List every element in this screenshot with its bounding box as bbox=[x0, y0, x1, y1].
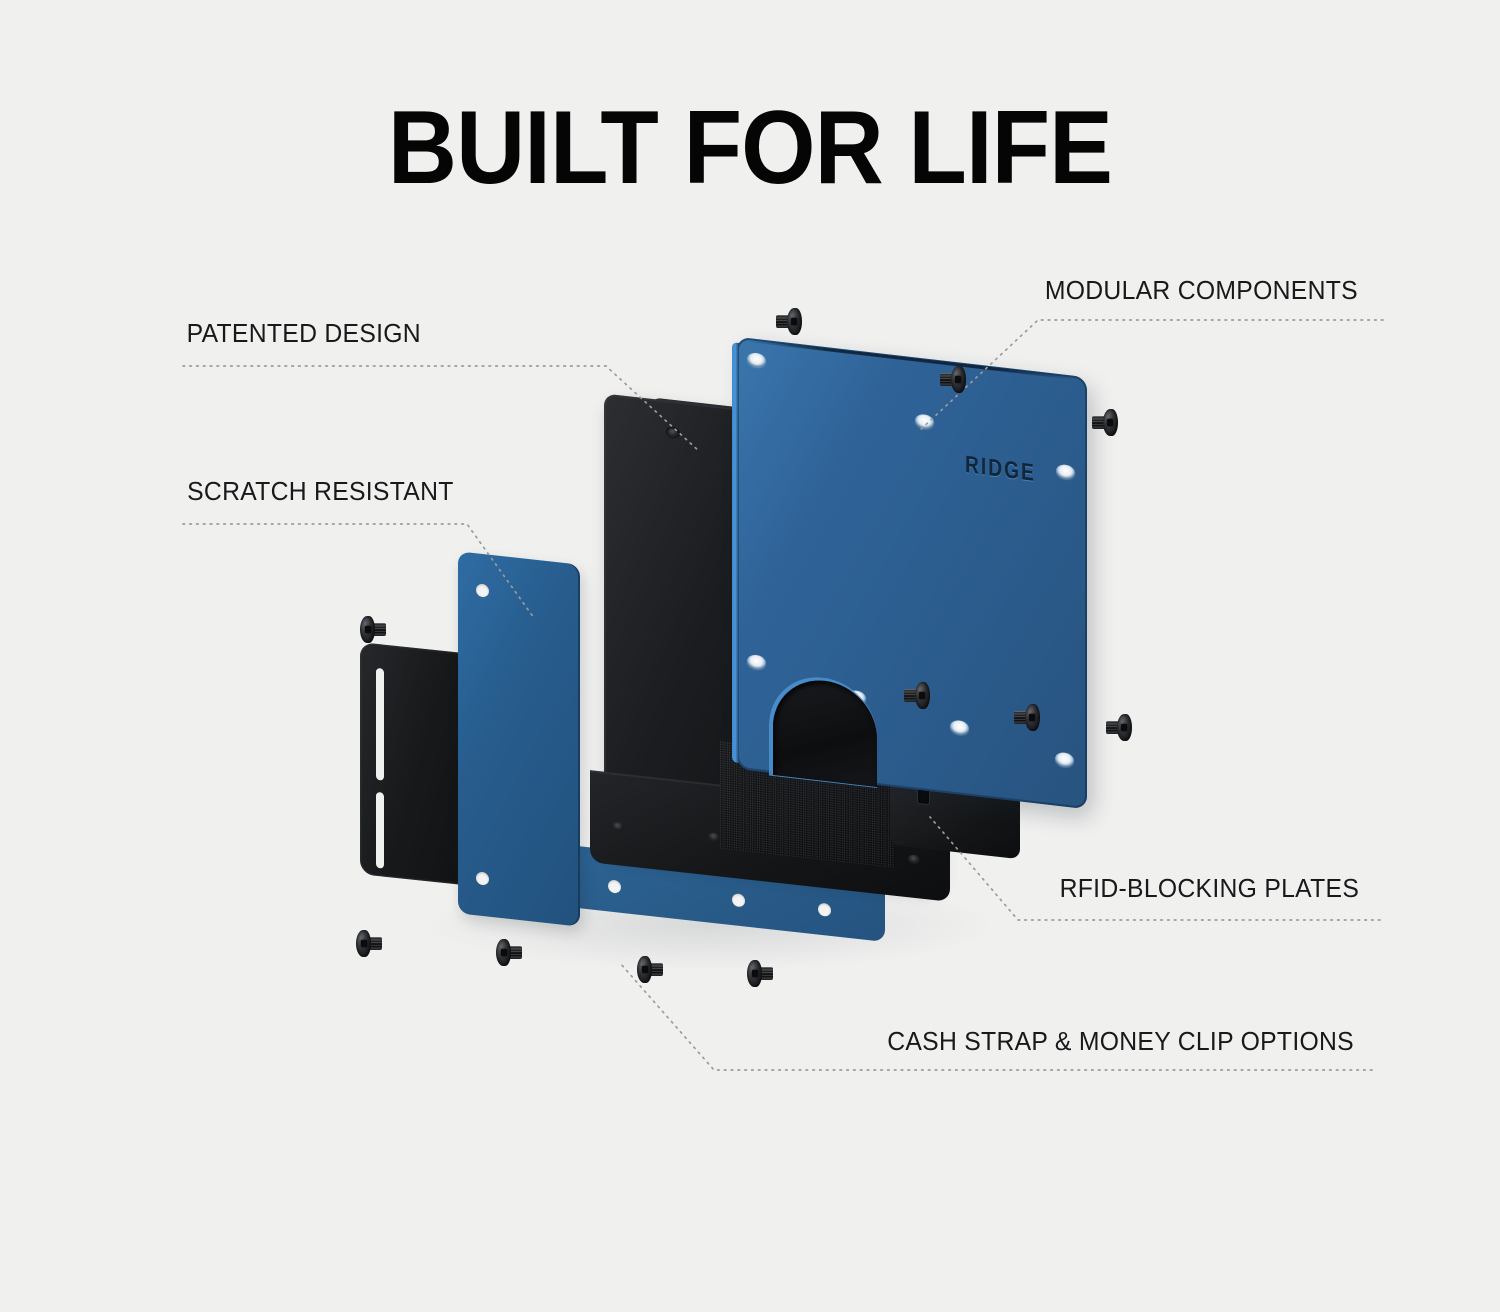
plate-hole bbox=[1056, 464, 1075, 480]
plate-hole bbox=[732, 893, 745, 907]
screw-hex-socket bbox=[955, 376, 961, 383]
screw-hex-socket bbox=[791, 318, 797, 325]
plate-hole bbox=[747, 352, 766, 368]
money-clip-slot-lower bbox=[376, 792, 384, 869]
money-clip-slot-upper bbox=[376, 668, 384, 781]
screw-hole bbox=[708, 832, 720, 842]
plate-hole bbox=[747, 654, 766, 670]
screw-hex-socket bbox=[501, 949, 507, 956]
screw-hex-socket bbox=[1121, 724, 1127, 731]
plate-hole bbox=[1055, 752, 1074, 768]
ridge-logo: RIDGE bbox=[965, 451, 1036, 488]
screw-hex-socket bbox=[1107, 419, 1113, 426]
screw-hole bbox=[666, 426, 680, 439]
screw-hex-socket bbox=[642, 966, 648, 973]
screw-hole bbox=[908, 854, 920, 864]
plate-hole bbox=[818, 903, 831, 917]
screw-hex-socket bbox=[752, 970, 758, 977]
rfid-plate-left bbox=[458, 551, 580, 926]
screw-hole bbox=[612, 822, 624, 832]
screw-hex-socket bbox=[919, 692, 925, 699]
plate-hole bbox=[476, 871, 489, 885]
plate-hole bbox=[608, 879, 621, 893]
screw-hex-socket bbox=[1029, 714, 1035, 721]
product-diagram-canvas: BUILT FOR LIFE bbox=[0, 0, 1500, 1312]
exploded-wallet-assembly: RIDGE bbox=[0, 0, 1500, 1312]
screw-hex-socket bbox=[361, 940, 367, 947]
plate-hole bbox=[915, 413, 934, 429]
screw-hex-socket bbox=[365, 626, 371, 633]
plate-hole bbox=[476, 583, 489, 597]
front-aluminum-plate: RIDGE bbox=[737, 337, 1087, 809]
plate-hole bbox=[950, 719, 969, 735]
